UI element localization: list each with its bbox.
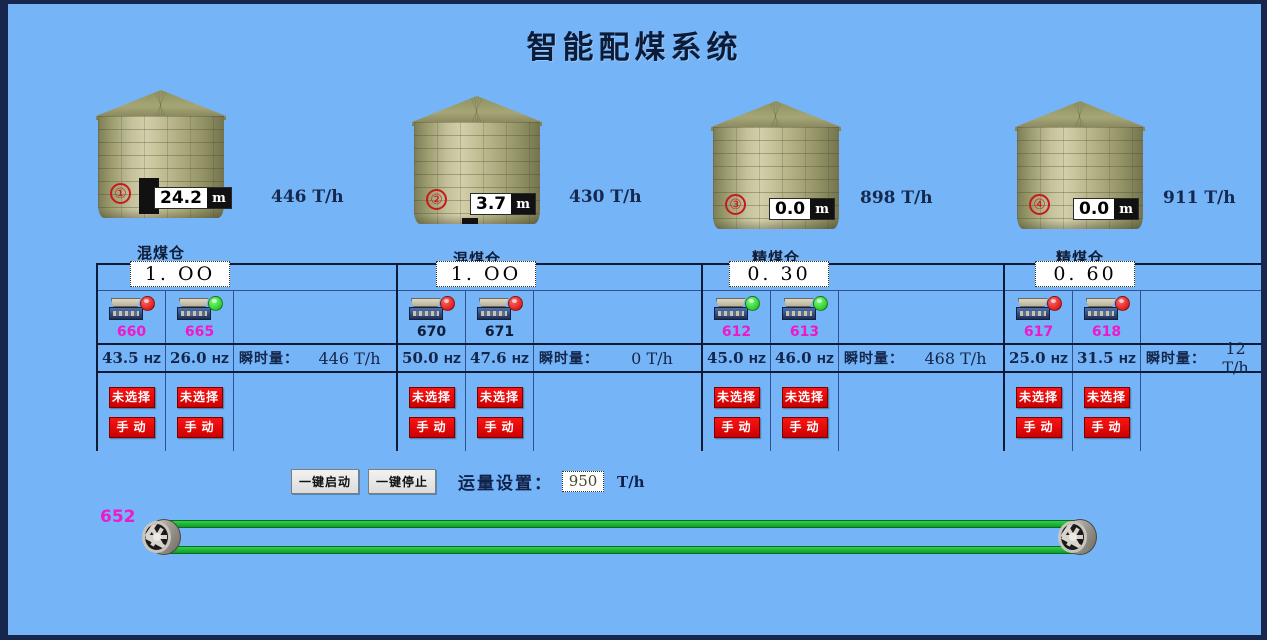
- feeder-machine-icon: [1084, 298, 1118, 320]
- silo-outlet-door: [462, 218, 478, 224]
- device-id: 612: [722, 324, 751, 340]
- throughput-unit: T/h: [617, 473, 645, 491]
- button-row: 未选择 手 动 未选择 手 动: [703, 373, 1003, 451]
- silo-index: ①: [110, 183, 131, 204]
- page-title: 智能配煤系统: [8, 22, 1261, 67]
- device-cell[interactable]: 613: [771, 291, 839, 343]
- mode-button[interactable]: 手 动: [1016, 417, 1062, 438]
- silo-name: 混煤仓: [76, 242, 246, 263]
- silo-graphic: ④ 0.0 m: [1015, 101, 1145, 229]
- button-spacer: [534, 373, 701, 451]
- instant-flow-cell: 瞬时量： 446 T/h: [234, 345, 396, 371]
- frequency-unit: HZ: [817, 353, 834, 366]
- frequency-value: 43.5: [102, 349, 139, 367]
- frequency-unit: HZ: [144, 353, 161, 366]
- device-id: 670: [417, 324, 446, 340]
- frequency-row: 43.5 HZ 26.0 HZ 瞬时量： 446 T/h: [98, 345, 396, 373]
- conveyor-belt[interactable]: [141, 516, 1099, 564]
- device-button-cell: 未选择 手 动: [771, 373, 839, 451]
- frequency-value: 31.5: [1077, 349, 1114, 367]
- select-button[interactable]: 未选择: [409, 387, 455, 408]
- silo-graphic: ② 3.7 m: [412, 96, 542, 224]
- feeder-group-2: 1. OO 670: [398, 265, 703, 451]
- frequency-unit: HZ: [1119, 353, 1136, 366]
- frequency-value: 45.0: [707, 349, 744, 367]
- silo-graphic: ① 24.2 m: [96, 90, 226, 218]
- device-button-cell: 未选择 手 动: [398, 373, 466, 451]
- mode-button[interactable]: 手 动: [409, 417, 455, 438]
- feeder-machine-icon: [782, 298, 816, 320]
- throughput-input[interactable]: 950: [562, 471, 604, 492]
- silo-graphic: ③ 0.0 m: [711, 101, 841, 229]
- button-row: 未选择 手 动 未选择 手 动: [98, 373, 396, 451]
- frequency-cell: 46.0 HZ: [771, 345, 839, 371]
- silo-index: ④: [1029, 194, 1050, 215]
- frequency-value: 47.6: [470, 349, 507, 367]
- feeder-machine-icon: [177, 298, 211, 320]
- frequency-cell: 43.5 HZ: [98, 345, 166, 371]
- frequency-unit: HZ: [749, 353, 766, 366]
- device-cell[interactable]: 618: [1073, 291, 1141, 343]
- conveyor-tail-pulley-icon: [1057, 517, 1099, 559]
- device-row: 612 613: [703, 291, 1003, 345]
- silo-index: ③: [725, 194, 746, 215]
- feeder-control-table: 1. OO 660: [96, 263, 1261, 451]
- instant-flow-label: 瞬时量：: [539, 348, 599, 368]
- command-bar: 一键启动 一键停止 运量设置： 950 T/h: [291, 469, 645, 494]
- device-cell[interactable]: 612: [703, 291, 771, 343]
- feeder-machine-icon: [477, 298, 511, 320]
- device-id: 665: [185, 324, 214, 340]
- frequency-row: 25.0 HZ 31.5 HZ 瞬时量： 12 T/h: [1005, 345, 1261, 373]
- status-lamp-red-icon: [508, 296, 523, 311]
- button-row: 未选择 手 动 未选择 手 动: [398, 373, 701, 451]
- device-row: 660 665: [98, 291, 396, 345]
- mode-button[interactable]: 手 动: [477, 417, 523, 438]
- device-cell[interactable]: 670: [398, 291, 466, 343]
- belt-bottom-strand: [159, 546, 1085, 554]
- instant-flow-label: 瞬时量：: [1146, 348, 1206, 368]
- status-lamp-red-icon: [140, 296, 155, 311]
- status-lamp-red-icon: [1047, 296, 1062, 311]
- instant-flow-cell: 瞬时量： 12 T/h: [1141, 345, 1261, 371]
- feeder-machine-icon: [109, 298, 143, 320]
- feeder-icon: [1016, 294, 1062, 322]
- ratio-row: 1. OO: [98, 265, 396, 291]
- button-row: 未选择 手 动 未选择 手 动: [1005, 373, 1261, 451]
- silo-4[interactable]: ④ 0.0 m 精煤仓: [1015, 101, 1145, 229]
- throughput-setting-label: 运量设置：: [458, 469, 553, 494]
- select-button[interactable]: 未选择: [1016, 387, 1062, 408]
- belt-top-strand: [159, 520, 1085, 528]
- mode-button[interactable]: 手 动: [714, 417, 760, 438]
- silo-1[interactable]: ① 24.2 m 混煤仓: [96, 90, 226, 218]
- silo-level-readout: 24.2 m: [154, 187, 232, 209]
- frequency-unit: HZ: [212, 353, 229, 366]
- frequency-row: 50.0 HZ 47.6 HZ 瞬时量： 0 T/h: [398, 345, 701, 373]
- device-id: 613: [790, 324, 819, 340]
- frequency-value: 50.0: [402, 349, 439, 367]
- ratio-input[interactable]: 1. OO: [130, 261, 230, 287]
- feeder-machine-icon: [714, 298, 748, 320]
- silo-level-readout: 0.0 m: [769, 198, 835, 220]
- instant-flow-value: 446 T/h: [303, 349, 396, 368]
- device-spacer: [234, 291, 396, 343]
- one-key-stop-button[interactable]: 一键停止: [368, 469, 436, 494]
- instant-flow-cell: 瞬时量： 0 T/h: [534, 345, 701, 371]
- silo-1-flow: 446 T/h: [271, 187, 344, 207]
- silo-3-flow: 898 T/h: [860, 188, 933, 208]
- silo-level-readout: 3.7 m: [470, 193, 536, 215]
- device-id: 617: [1024, 324, 1053, 340]
- frequency-value: 25.0: [1009, 349, 1046, 367]
- device-button-cell: 未选择 手 动: [703, 373, 771, 451]
- select-button[interactable]: 未选择: [1084, 387, 1130, 408]
- select-button[interactable]: 未选择: [782, 387, 828, 408]
- status-lamp-red-icon: [440, 296, 455, 311]
- instant-flow-label: 瞬时量：: [844, 348, 904, 368]
- instant-flow-value: 468 T/h: [908, 349, 1003, 368]
- ratio-row: 1. OO: [398, 265, 701, 291]
- silo-2[interactable]: ② 3.7 m 混煤仓: [412, 96, 542, 224]
- device-id: 618: [1092, 324, 1121, 340]
- frequency-cell: 47.6 HZ: [466, 345, 534, 371]
- button-spacer: [234, 373, 396, 451]
- feeder-machine-icon: [409, 298, 443, 320]
- silo-level-value: 0.0: [770, 199, 810, 219]
- frequency-row: 45.0 HZ 46.0 HZ 瞬时量： 468 T/h: [703, 345, 1003, 373]
- device-id: 660: [117, 324, 146, 340]
- feeder-icon: [109, 294, 155, 322]
- device-row: 670 671: [398, 291, 701, 345]
- device-id: 671: [485, 324, 514, 340]
- feeder-icon: [782, 294, 828, 322]
- one-key-start-button[interactable]: 一键启动: [291, 469, 359, 494]
- device-cell[interactable]: 617: [1005, 291, 1073, 343]
- silo-level-unit: m: [207, 188, 231, 208]
- feeder-icon: [177, 294, 223, 322]
- device-button-cell: 未选择 手 动: [98, 373, 166, 451]
- feeder-group-3: 0. 30 612: [703, 265, 1005, 451]
- status-lamp-red-icon: [1115, 296, 1130, 311]
- device-button-cell: 未选择 手 动: [1073, 373, 1141, 451]
- ratio-input[interactable]: 0. 30: [729, 261, 829, 287]
- device-button-cell: 未选择 手 动: [466, 373, 534, 451]
- frequency-value: 46.0: [775, 349, 812, 367]
- status-lamp-green-icon: [208, 296, 223, 311]
- feeder-group-1: 1. OO 660: [98, 265, 398, 451]
- frequency-unit: HZ: [512, 353, 529, 366]
- mode-button[interactable]: 手 动: [109, 417, 155, 438]
- feeder-machine-icon: [1016, 298, 1050, 320]
- feeder-icon: [409, 294, 455, 322]
- silo-level-value: 0.0: [1074, 199, 1114, 219]
- button-spacer: [1141, 373, 1261, 451]
- select-button[interactable]: 未选择: [477, 387, 523, 408]
- device-spacer: [534, 291, 701, 343]
- frequency-cell: 50.0 HZ: [398, 345, 466, 371]
- silo-4-flow: 911 T/h: [1163, 188, 1236, 208]
- device-spacer: [839, 291, 1003, 343]
- device-spacer: [1141, 291, 1261, 343]
- feeder-group-4: 0. 60 617: [1005, 265, 1261, 451]
- button-spacer: [839, 373, 1003, 451]
- select-button[interactable]: 未选择: [109, 387, 155, 408]
- mode-button[interactable]: 手 动: [782, 417, 828, 438]
- ratio-input[interactable]: 1. OO: [436, 261, 536, 287]
- frequency-value: 26.0: [170, 349, 207, 367]
- device-cell[interactable]: 660: [98, 291, 166, 343]
- mode-button[interactable]: 手 动: [1084, 417, 1130, 438]
- instant-flow-label: 瞬时量：: [239, 348, 299, 368]
- silo-level-value: 3.7: [471, 194, 511, 214]
- status-lamp-green-icon: [745, 296, 760, 311]
- feeder-icon: [714, 294, 760, 322]
- instant-flow-value: 12 T/h: [1210, 339, 1261, 377]
- device-button-cell: 未选择 手 动: [1005, 373, 1073, 451]
- silo-level-readout: 0.0 m: [1073, 198, 1139, 220]
- frequency-cell: 26.0 HZ: [166, 345, 234, 371]
- silo-level-value: 24.2: [155, 188, 207, 208]
- conveyor-id-label: 652: [100, 507, 136, 527]
- ratio-row: 0. 30: [703, 265, 1003, 291]
- conveyor-head-pulley-icon: [141, 517, 183, 559]
- silo-3[interactable]: ③ 0.0 m 精煤仓: [711, 101, 841, 229]
- device-cell[interactable]: 671: [466, 291, 534, 343]
- device-cell[interactable]: 665: [166, 291, 234, 343]
- select-button[interactable]: 未选择: [177, 387, 223, 408]
- ratio-input[interactable]: 0. 60: [1035, 261, 1135, 287]
- frequency-unit: HZ: [444, 353, 461, 366]
- frequency-cell: 31.5 HZ: [1073, 345, 1141, 371]
- device-button-cell: 未选择 手 动: [166, 373, 234, 451]
- select-button[interactable]: 未选择: [714, 387, 760, 408]
- silo-level-unit: m: [511, 194, 535, 214]
- silo-level-unit: m: [1114, 199, 1138, 219]
- silo-2-flow: 430 T/h: [569, 187, 642, 207]
- silo-index: ②: [426, 189, 447, 210]
- ratio-row: 0. 60: [1005, 265, 1261, 291]
- frequency-unit: HZ: [1051, 353, 1068, 366]
- mode-button[interactable]: 手 动: [177, 417, 223, 438]
- frequency-cell: 25.0 HZ: [1005, 345, 1073, 371]
- silo-level-unit: m: [810, 199, 834, 219]
- feeder-icon: [477, 294, 523, 322]
- hmi-screen: 智能配煤系统 ① 24.2 m 混煤仓 446 T/h ② 3.7 m 混煤仓: [8, 4, 1261, 635]
- device-row: 617 618: [1005, 291, 1261, 345]
- status-lamp-green-icon: [813, 296, 828, 311]
- feeder-icon: [1084, 294, 1130, 322]
- frequency-cell: 45.0 HZ: [703, 345, 771, 371]
- instant-flow-value: 0 T/h: [603, 349, 701, 368]
- instant-flow-cell: 瞬时量： 468 T/h: [839, 345, 1003, 371]
